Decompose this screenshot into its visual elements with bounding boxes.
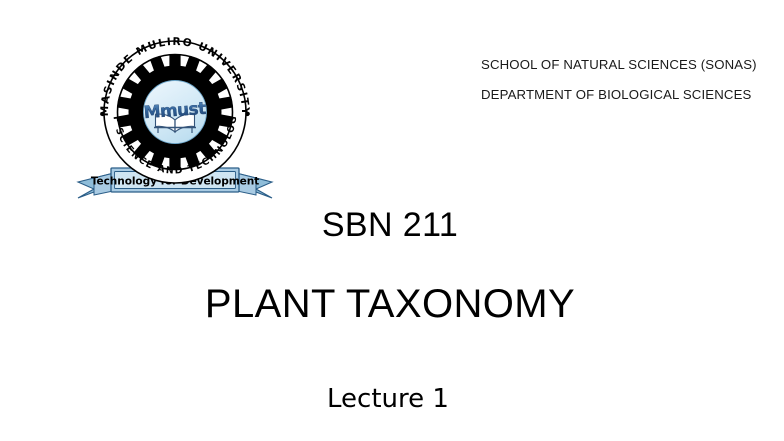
- course-title: PLANT TAXONOMY: [0, 281, 784, 327]
- university-logo-graphic: Technology for Development MASINDE MULIR…: [72, 28, 278, 200]
- lecture-number: Lecture 1: [0, 385, 780, 415]
- department-name: DEPARTMENT OF BIOLOGICAL SCIENCES: [481, 88, 781, 101]
- logo-seal: MASINDE MULIRO UNIVERSITY OF SCIENCE AND…: [72, 28, 251, 183]
- faculty-header: SCHOOL OF NATURAL SCIENCES (SONAS) DEPAR…: [481, 58, 781, 101]
- logo-dot-right: [245, 112, 249, 116]
- slide-title-block: SBN 211 PLANT TAXONOMY: [0, 206, 784, 327]
- course-code: SBN 211: [0, 206, 784, 245]
- university-logo: Technology for Development MASINDE MULIR…: [72, 28, 278, 200]
- presentation-slide: Technology for Development MASINDE MULIR…: [0, 0, 784, 441]
- logo-dot-left: [100, 112, 104, 116]
- school-name: SCHOOL OF NATURAL SCIENCES (SONAS): [481, 58, 781, 71]
